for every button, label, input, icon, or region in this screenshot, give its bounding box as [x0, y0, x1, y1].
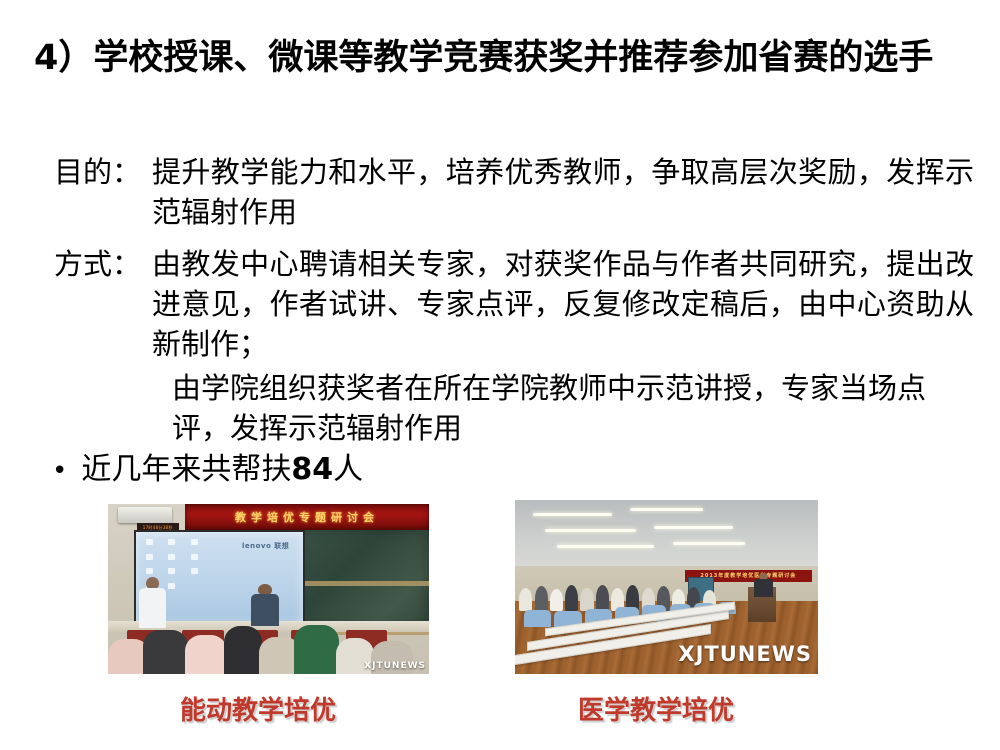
screen-brand-logo: lenovo 联想 — [242, 541, 289, 551]
caption-yi-xue: 医学教学培优 — [578, 690, 734, 727]
bullet-text-prefix: 近几年来共帮扶 — [81, 452, 291, 487]
section-method-extra: 由学院组织获奖者在所在学院教师中示范讲授，专家当场点评，发挥示范辐射作用 — [172, 368, 974, 448]
bullet-dot-icon: • — [52, 458, 67, 484]
bullet-count: 84 — [291, 452, 333, 487]
bullet-text-suffix: 人 — [333, 452, 363, 487]
photo-neng-dong-scene: 教学培优专题研讨会 17时48分38秒 lenovo 联想 — [108, 504, 429, 674]
bullet-text: 近几年来共帮扶84人 — [81, 452, 363, 488]
section-method-label: 方式： — [34, 244, 152, 284]
section-method: 方式： 由教发中心聘请相关专家，对获奖作品与作者共同研究，提出改进意见，作者试讲… — [34, 244, 974, 364]
caption-neng-dong: 能动教学培优 — [180, 690, 336, 727]
lecture-hall-ceiling — [515, 500, 818, 570]
watermark-xjtunews: XJTUNEWS — [678, 642, 812, 666]
section-purpose: 目的： 提升教学能力和水平，培养优秀教师，争取高层次奖励，发挥示范辐射作用 — [34, 152, 974, 232]
watermark-xjtunews: XJTUNEWS — [364, 661, 426, 671]
bullet-item-support-count: • 近几年来共帮扶84人 — [52, 452, 363, 488]
section-method-text: 由教发中心聘请相关专家，对获奖作品与作者共同研究，提出改进意见，作者试讲、专家点… — [152, 244, 974, 364]
section-purpose-text: 提升教学能力和水平，培养优秀教师，争取高层次奖励，发挥示范辐射作用 — [152, 152, 974, 232]
seminar-banner: 教学培优专题研讨会 — [185, 504, 429, 530]
slide-canvas: 4）学校授课、微课等教学竞赛获奖并推荐参加省赛的选手 目的： 提升教学能力和水平… — [0, 0, 1000, 750]
projector-icon — [118, 507, 173, 522]
page-title: 4）学校授课、微课等教学竞赛获奖并推荐参加省赛的选手 — [34, 36, 964, 82]
section-purpose-label: 目的： — [34, 152, 152, 192]
photo-neng-dong: 教学培优专题研讨会 17时48分38秒 lenovo 联想 — [108, 504, 429, 674]
photo-yi-xue-scene: 2013年度教学培优医学专题研讨会 — [515, 500, 818, 674]
paragraph-spacer — [34, 236, 974, 244]
body-content: 目的： 提升教学能力和水平，培养优秀教师，争取高层次奖励，发挥示范辐射作用 方式… — [34, 152, 974, 448]
photo-yi-xue: 2013年度教学培优医学专题研讨会 — [515, 500, 818, 674]
